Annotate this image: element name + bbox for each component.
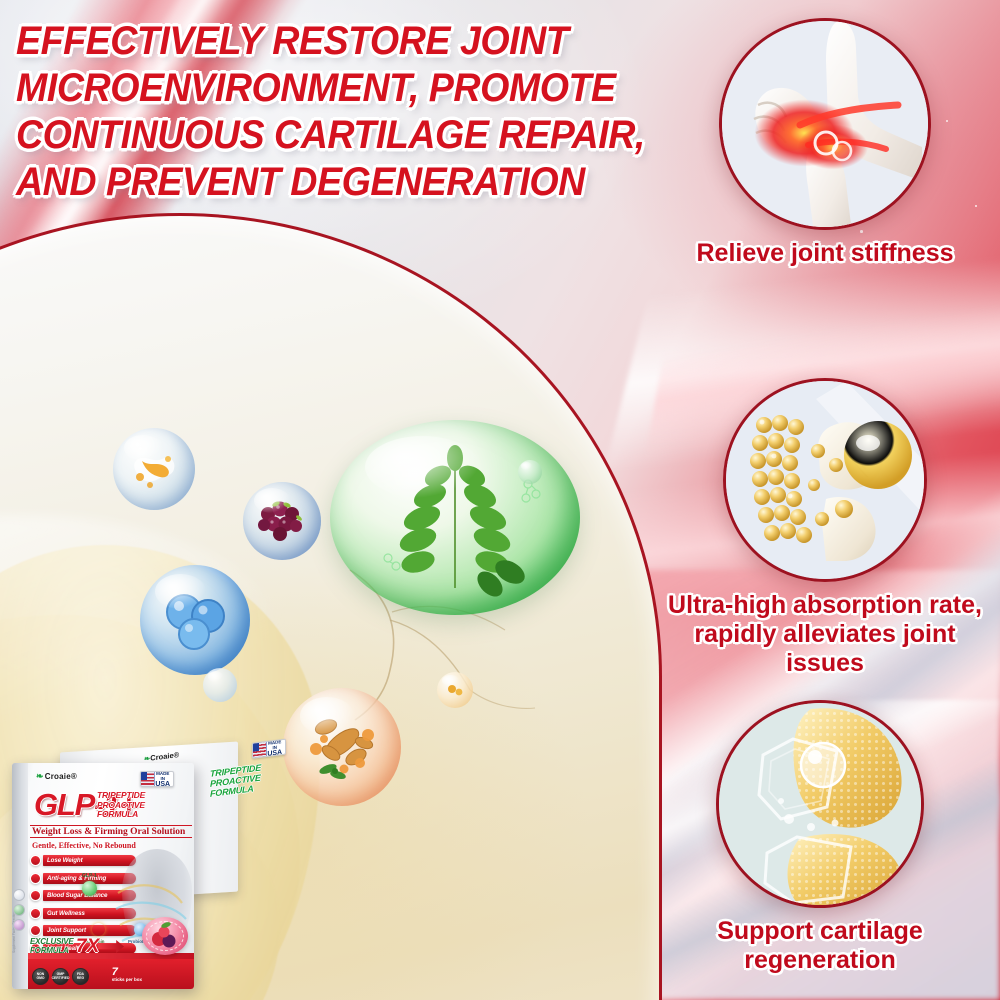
usa-flag-side-icon <box>13 889 25 901</box>
brand-name-back: Croaie® <box>150 750 179 763</box>
seal-badge: NON GMO <box>32 968 49 985</box>
feature-label-support-cartilage-regeneration: Support cartilage regeneration <box>660 917 980 975</box>
glp1-molecule-icon <box>82 881 97 896</box>
product-box-front: Supplement Facts · Directions ❧Croaie® M… <box>12 763 194 989</box>
count-unit: sticks per box <box>112 978 142 983</box>
usa-label-front: USA <box>153 781 172 788</box>
flavor-badge-ring <box>146 921 184 951</box>
headline-line-2: MICROENVIRONMENT, PROMOTE <box>16 65 674 112</box>
feature-image-absorption <box>723 378 927 582</box>
orb-mini-clear <box>203 668 237 702</box>
orb-mini-gold-content <box>437 672 473 708</box>
flag-canton <box>253 743 259 752</box>
brand-logo-back: ❧Croaie® <box>144 750 179 763</box>
orb-mini-green <box>518 460 542 484</box>
orb-herb-leaf <box>330 420 580 615</box>
turmeric-root-icon <box>294 703 390 791</box>
benefit-icon <box>30 890 41 901</box>
capsule-icon <box>156 584 234 656</box>
gold-spheres-absorption-icon <box>726 381 927 582</box>
orb-blue-capsules <box>140 565 250 675</box>
benefit-label: Joint Support <box>47 927 86 934</box>
leaf-side-icon <box>13 904 25 916</box>
flavor-badge <box>142 917 188 955</box>
seal-badge: FDA REG <box>72 968 89 985</box>
feature-relieve-joint-stiffness: Relieve joint stiffness <box>665 18 985 268</box>
headline-line-1: EFFECTIVELY RESTORE JOINT <box>16 18 674 65</box>
honey-drizzle-icon <box>124 441 184 497</box>
berry-cluster-icon <box>254 496 310 546</box>
feature-image-knee-joint <box>719 18 931 230</box>
orb-herb-leaf-content <box>330 420 580 615</box>
cartilage-mesh-icon <box>719 703 924 908</box>
knee-joint-anatomy-icon <box>722 21 931 230</box>
box-side-icons <box>13 889 27 934</box>
usa-label-back: USA <box>265 748 284 757</box>
orb-blue-capsules-content <box>140 565 250 675</box>
flag-canton <box>141 772 147 780</box>
orb-mini-gold <box>437 672 473 708</box>
made-in-usa-badge-back: MADE IN USA <box>252 739 286 759</box>
benefit-label: Blood Sugar Balance <box>47 892 107 899</box>
made-in-usa-text-back: MADE IN USA <box>265 740 284 756</box>
headline-line-4: AND PREVENT DEGENERATION <box>16 159 674 206</box>
feature-label-ultra-high-absorption: Ultra-high absorption rate, rapidly alle… <box>665 591 985 678</box>
product-subtitle: Weight Loss & Firming Oral Solution <box>30 827 185 837</box>
orb-turmeric-content <box>283 688 401 806</box>
feature-ultra-high-absorption: Ultra-high absorption rate, rapidly alle… <box>665 378 985 678</box>
benefit-icon <box>30 873 41 884</box>
product-subtitle-bar: Weight Loss & Firming Oral Solution <box>30 825 192 838</box>
oil-bead-icon <box>444 680 466 700</box>
brand-logo-front: ❧Croaie® <box>36 771 77 782</box>
count-badge: 7 sticks per box <box>112 966 142 983</box>
curcumin-capsule-icon <box>92 923 105 936</box>
advertisement-canvas: EFFECTIVELY RESTORE JOINT MICROENVIRONME… <box>0 0 1000 1000</box>
orb-berries-content <box>243 482 321 560</box>
feature-label-relieve-joint-stiffness: Relieve joint stiffness <box>665 239 985 268</box>
made-in-label-front: MADE IN <box>153 771 172 781</box>
orb-honey-content <box>113 428 195 510</box>
glp1-inner-label: GLP-1 <box>82 873 97 879</box>
leaf-icon <box>360 438 550 598</box>
feature-support-cartilage-regeneration: Support cartilage regeneration <box>660 700 980 975</box>
orb-berries <box>243 482 321 560</box>
brand-name-front: Croaie® <box>45 772 77 781</box>
formula-text-back: TRIPEPTIDEPROACTIVEFORMULA <box>210 763 261 799</box>
page-title: EFFECTIVELY RESTORE JOINT MICROENVIRONME… <box>16 18 674 206</box>
orb-honey <box>113 428 195 510</box>
product-package-group: ❧Croaie® MADE IN USA TRIPEPTIDEPROACTIVE… <box>0 745 298 1000</box>
benefit-label: Gut Wellness <box>47 910 85 917</box>
benefit-icon <box>30 855 41 866</box>
seal-badge: GMP CERTIFIED <box>52 968 69 985</box>
headline-line-3: CONTINUOUS CARTILAGE REPAIR, <box>16 112 674 159</box>
feature-image-cartilage <box>716 700 924 908</box>
benefit-icon <box>30 925 41 936</box>
formula-text-front: TRIPEPTIDEPROACTIVEFORMULA <box>97 791 145 820</box>
orb-turmeric <box>283 688 401 806</box>
flower-side-icon <box>13 919 25 931</box>
leaf-icon: ❧ <box>36 771 44 781</box>
benefit-label: Lose Weight <box>47 857 83 864</box>
made-in-usa-text-front: MADE IN USA <box>153 772 172 786</box>
made-in-usa-badge-front: MADE IN USA <box>140 771 174 787</box>
certification-seals: NON GMO GMP CERTIFIED FDA REG <box>32 968 89 985</box>
product-tagline: Gentle, Effective, No Rebound <box>32 841 136 850</box>
benefit-icon <box>30 908 41 919</box>
benefit-label: Anti-aging & Firming <box>47 875 106 882</box>
